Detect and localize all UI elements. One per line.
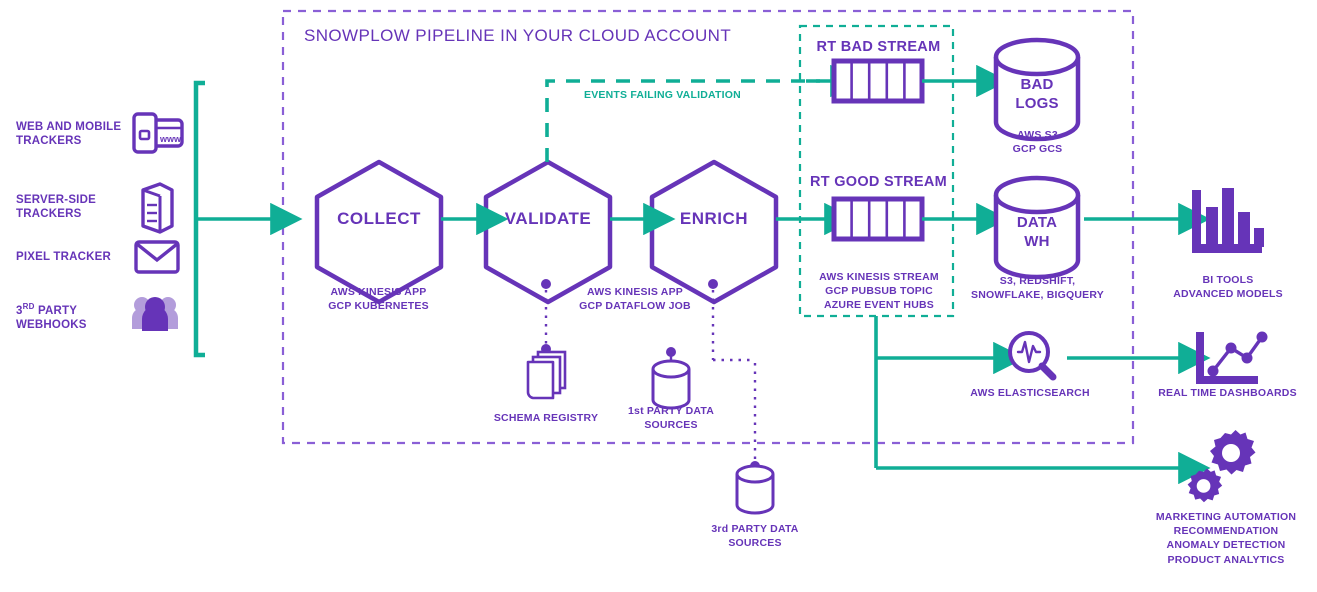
third-party-label: 3rd PARTY DATA SOURCES (695, 522, 815, 550)
bad-stream-queue-icon (834, 61, 922, 101)
data-wh-caption: S3, REDSHIFT, SNOWFLAKE, BIGQUERY (960, 274, 1115, 302)
source-line-1: WEB AND MOBILE (16, 120, 131, 134)
dashboards-line-chart-icon (1196, 332, 1268, 385)
source-line-2: TRACKERS (16, 207, 131, 221)
caption-validate-enrich: AWS KINESIS APP GCP DATAFLOW JOB (570, 285, 700, 313)
bad-logs-label: BAD LOGS (996, 76, 1078, 114)
first-party-cylinder-icon (653, 361, 689, 408)
caption-line: MARKETING AUTOMATION (1140, 510, 1312, 524)
store-line: WH (996, 233, 1078, 252)
failing-validation-label: EVENTS FAILING VALIDATION (584, 89, 741, 101)
data-wh-label: DATA WH (996, 214, 1078, 252)
caption-line: GCP KUBERNETES (316, 299, 441, 313)
dot-enrich-anchor (708, 279, 718, 289)
source-line-1: 3RD PARTY (16, 302, 131, 318)
source-line-1: SERVER-SIDE (16, 193, 131, 207)
source-line-2: WEBHOOKS (16, 318, 131, 332)
svg-text:www: www (159, 134, 182, 144)
hexagon-label-collect: COLLECT (317, 209, 441, 229)
caption-line: AZURE EVENT HUBS (805, 298, 953, 312)
people-icon (132, 297, 178, 331)
schema-registry-label: SCHEMA REGISTRY (486, 411, 606, 425)
caption-collect: AWS KINESIS APP GCP KUBERNETES (316, 285, 441, 313)
marketing-caption: MARKETING AUTOMATION RECOMMENDATION ANOM… (1140, 510, 1312, 567)
source-label-server-side: SERVER-SIDE TRACKERS (16, 193, 131, 222)
source-line-1: PIXEL TRACKER (16, 250, 141, 264)
source-label-webhooks: 3RD PARTY WEBHOOKS (16, 302, 131, 333)
bad-stream-title: RT BAD STREAM (806, 39, 951, 55)
elasticsearch-search-waveform-icon (1010, 333, 1053, 377)
marketing-gears-icon (1188, 430, 1256, 502)
store-line: BAD (996, 76, 1078, 95)
caption-line: 1st PARTY DATA (611, 404, 731, 418)
source-line-2: TRACKERS (16, 134, 131, 148)
bi-tools-bar-chart-icon (1192, 188, 1264, 253)
caption-line: AWS KINESIS APP (570, 285, 700, 299)
dashboards-caption: REAL TIME DASHBOARDS (1145, 386, 1310, 400)
store-line: DATA (996, 214, 1078, 233)
caption-line: GCP DATAFLOW JOB (570, 299, 700, 313)
mobile-web-icon: www (134, 114, 182, 152)
bad-logs-caption: AWS S3 GCP GCS (970, 128, 1105, 156)
caption-line: AWS KINESIS APP (316, 285, 441, 299)
caption-line: S3, REDSHIFT, (960, 274, 1115, 288)
diagram-canvas: www SNOWPLOW PIPELINE IN YOUR CLOUD ACCO… (0, 0, 1317, 592)
first-party-label: 1st PARTY DATA SOURCES (611, 404, 731, 432)
hexagon-label-validate: VALIDATE (486, 209, 610, 229)
elasticsearch-caption: AWS ELASTICSEARCH (965, 386, 1095, 400)
caption-line: SNOWFLAKE, BIGQUERY (960, 288, 1115, 302)
server-icon (143, 184, 172, 232)
caption-line: ADVANCED MODELS (1150, 287, 1306, 301)
caption-line: AWS S3 (970, 128, 1105, 142)
caption-line: PRODUCT ANALYTICS (1140, 553, 1312, 567)
caption-line: REAL TIME DASHBOARDS (1145, 386, 1310, 400)
caption-line: SOURCES (695, 536, 815, 550)
good-stream-title: RT GOOD STREAM (806, 174, 951, 190)
hexagon-label-enrich: ENRICH (652, 209, 776, 229)
caption-line: RECOMMENDATION (1140, 524, 1312, 538)
hexagon-collect (317, 162, 441, 302)
source-label-web-mobile: WEB AND MOBILE TRACKERS (16, 120, 131, 149)
bi-tools-caption: BI TOOLS ADVANCED MODELS (1150, 273, 1306, 301)
page-title: SNOWPLOW PIPELINE IN YOUR CLOUD ACCOUNT (304, 25, 731, 46)
caption-line: ANOMALY DETECTION (1140, 538, 1312, 552)
good-stream-queue-icon (834, 199, 922, 239)
good-stream-caption: AWS KINESIS STREAM GCP PUBSUB TOPIC AZUR… (805, 270, 953, 313)
caption-line: 3rd PARTY DATA (695, 522, 815, 536)
dot-first-party-anchor (666, 347, 676, 357)
store-line: LOGS (996, 95, 1078, 114)
schema-registry-documents-icon (528, 352, 565, 398)
caption-line: BI TOOLS (1150, 273, 1306, 287)
caption-line: AWS KINESIS STREAM (805, 270, 953, 284)
caption-line: GCP PUBSUB TOPIC (805, 284, 953, 298)
envelope-icon (136, 242, 178, 272)
source-label-pixel-tracker: PIXEL TRACKER (16, 250, 141, 264)
caption-line: GCP GCS (970, 142, 1105, 156)
dot-validate-anchor (541, 279, 551, 289)
caption-line: SOURCES (611, 418, 731, 432)
third-party-cylinder-icon (737, 466, 773, 513)
